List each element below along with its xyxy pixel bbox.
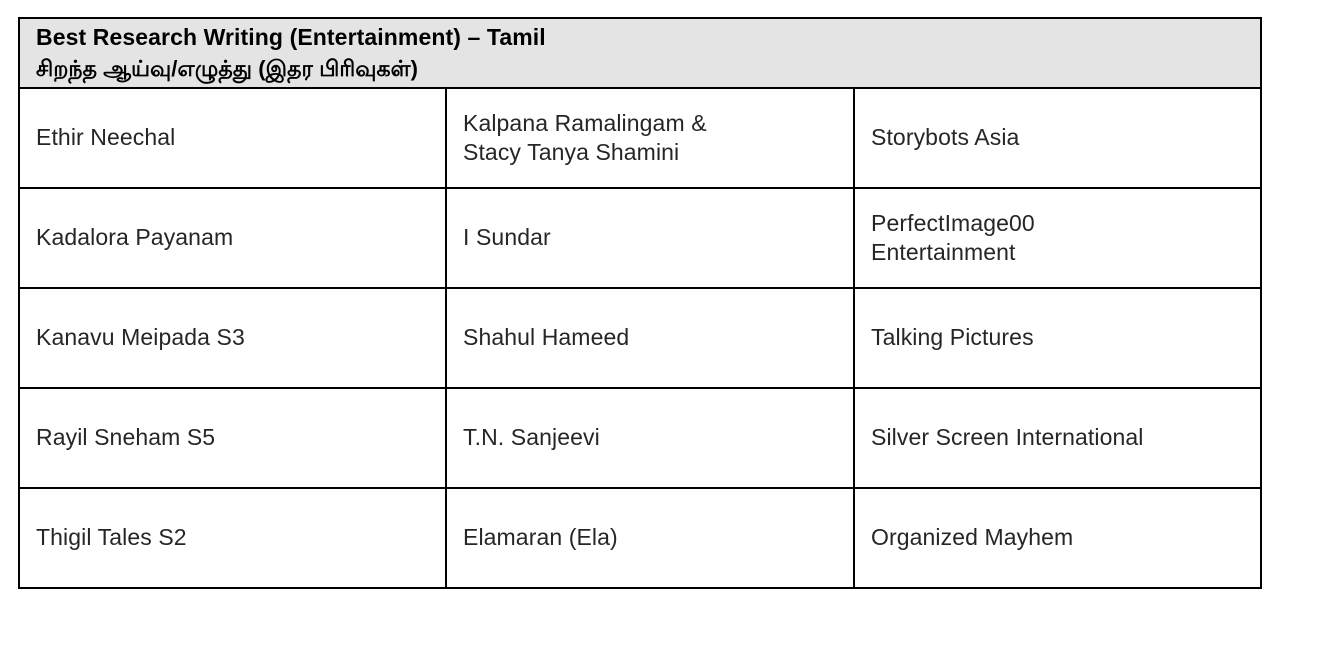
category-title: Best Research Writing (Entertainment) – …	[36, 23, 1244, 53]
person-name: Elamaran (Ela)	[463, 523, 837, 552]
table-row: Kadalora Payanam I Sundar PerfectImage00…	[19, 188, 1261, 288]
company-name: Silver Screen International	[871, 423, 1244, 452]
company-name: Organized Mayhem	[871, 523, 1244, 552]
company-name: Talking Pictures	[871, 323, 1244, 352]
company-name: Storybots Asia	[871, 123, 1244, 152]
cell-program: Rayil Sneham S5	[19, 388, 446, 488]
cell-person: I Sundar	[446, 188, 854, 288]
cell-company: Silver Screen International	[854, 388, 1261, 488]
category-header-cell: Best Research Writing (Entertainment) – …	[19, 18, 1261, 88]
cell-program: Kanavu Meipada S3	[19, 288, 446, 388]
program-name: Kanavu Meipada S3	[36, 323, 429, 352]
person-name: T.N. Sanjeevi	[463, 423, 837, 452]
cell-person: Shahul Hameed	[446, 288, 854, 388]
table-header-row: Best Research Writing (Entertainment) – …	[19, 18, 1261, 88]
cell-person: T.N. Sanjeevi	[446, 388, 854, 488]
person-name: I Sundar	[463, 223, 837, 252]
cell-company: PerfectImage00 Entertainment	[854, 188, 1261, 288]
program-name: Kadalora Payanam	[36, 223, 429, 252]
cell-person: Kalpana Ramalingam & Stacy Tanya Shamini	[446, 88, 854, 188]
category-subtitle-tamil: சிறந்த ஆய்வு/எழுத்து (இதர பிரிவுகள்)	[36, 54, 1244, 83]
person-name: Kalpana Ramalingam & Stacy Tanya Shamini	[463, 109, 837, 168]
table-row: Rayil Sneham S5 T.N. Sanjeevi Silver Scr…	[19, 388, 1261, 488]
page-root: Best Research Writing (Entertainment) – …	[0, 0, 1324, 658]
cell-program: Thigil Tales S2	[19, 488, 446, 588]
cell-company: Organized Mayhem	[854, 488, 1261, 588]
award-nominees-table: Best Research Writing (Entertainment) – …	[18, 17, 1262, 589]
table-row: Kanavu Meipada S3 Shahul Hameed Talking …	[19, 288, 1261, 388]
person-name: Shahul Hameed	[463, 323, 837, 352]
table-row: Thigil Tales S2 Elamaran (Ela) Organized…	[19, 488, 1261, 588]
company-name: PerfectImage00 Entertainment	[871, 209, 1244, 268]
cell-program: Kadalora Payanam	[19, 188, 446, 288]
program-name: Ethir Neechal	[36, 123, 429, 152]
cell-program: Ethir Neechal	[19, 88, 446, 188]
program-name: Thigil Tales S2	[36, 523, 429, 552]
cell-company: Storybots Asia	[854, 88, 1261, 188]
cell-person: Elamaran (Ela)	[446, 488, 854, 588]
table-row: Ethir Neechal Kalpana Ramalingam & Stacy…	[19, 88, 1261, 188]
cell-company: Talking Pictures	[854, 288, 1261, 388]
program-name: Rayil Sneham S5	[36, 423, 429, 452]
